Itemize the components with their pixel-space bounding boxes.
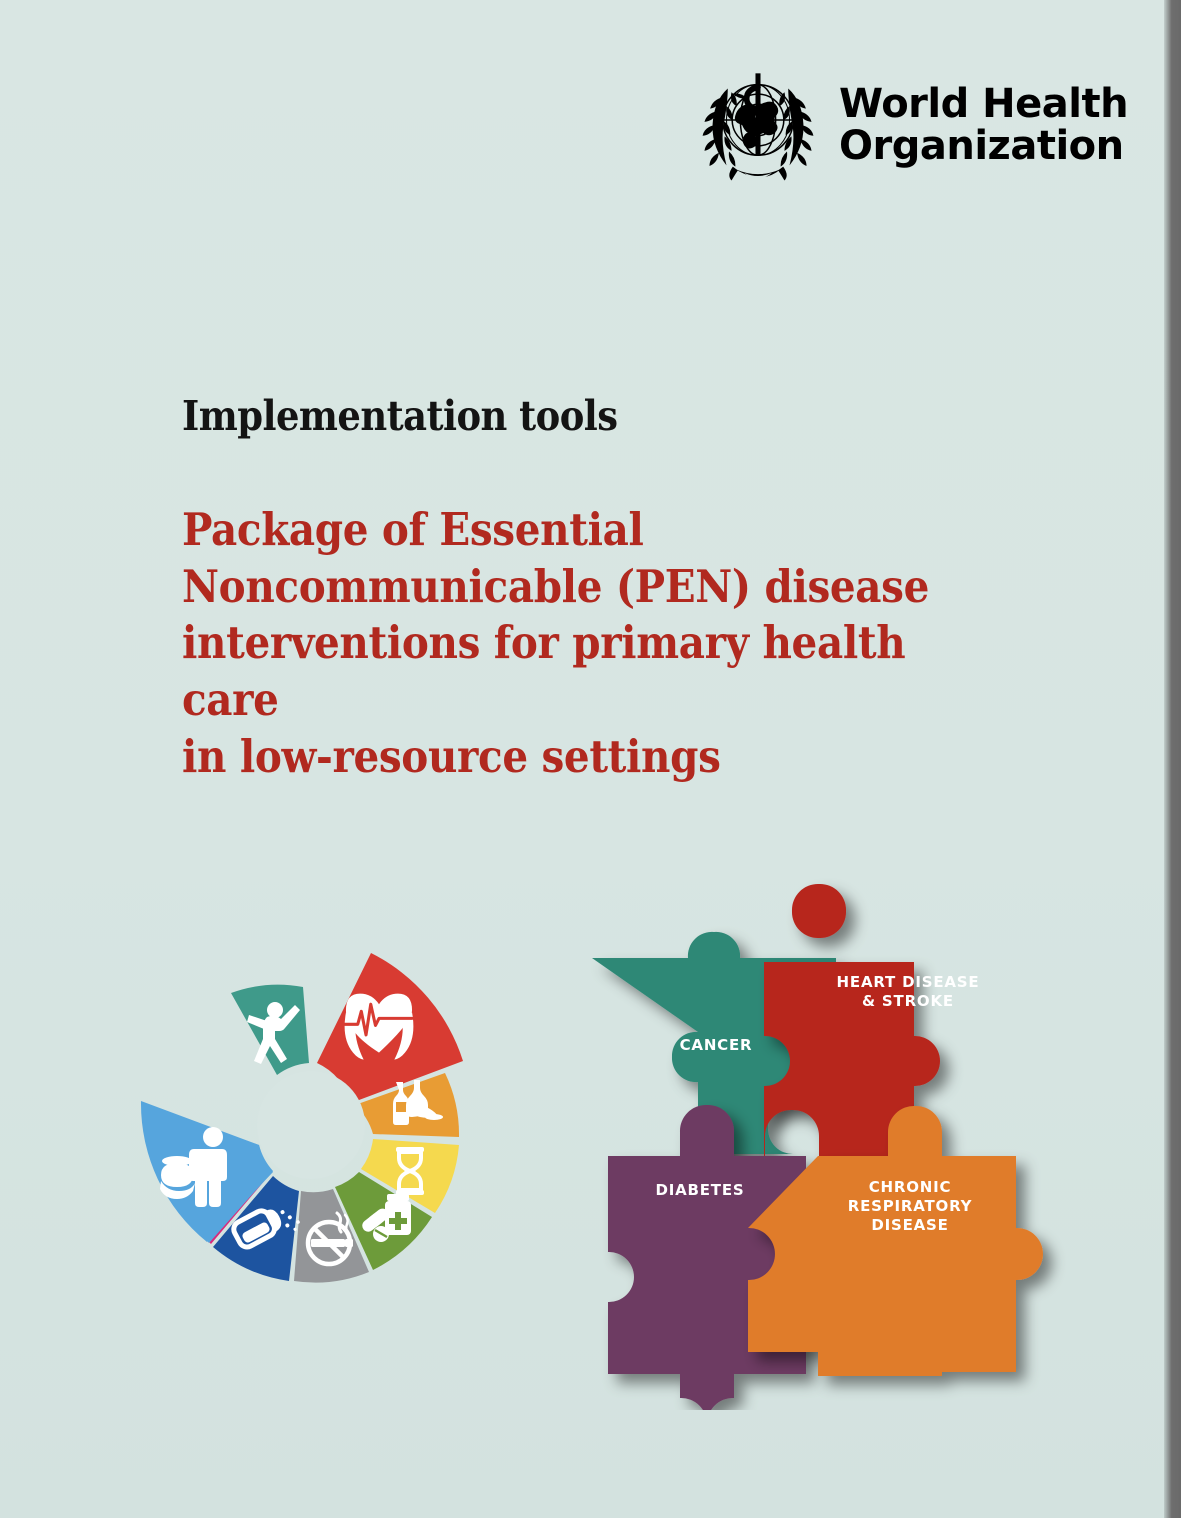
svg-text:HEART DISEASE: HEART DISEASE xyxy=(837,973,980,991)
cover-page: World Health Organization Implementation… xyxy=(0,0,1181,1518)
who-logo: World Health Organization xyxy=(695,62,1181,188)
svg-text:DISEASE: DISEASE xyxy=(871,1216,948,1234)
heart-in-hands-icon xyxy=(344,994,414,1060)
page-title: Package of Essential Noncommunicable (PE… xyxy=(182,502,992,785)
svg-text:RESPIRATORY: RESPIRATORY xyxy=(848,1197,973,1215)
ncd-risk-factor-pinwheel xyxy=(96,880,526,1350)
puzzle-piece-chronic-respiratory-disease xyxy=(748,1106,1043,1376)
pinwheel-hub xyxy=(257,1071,365,1179)
pinwheel-segment-physical-activity xyxy=(231,985,309,1075)
svg-text:CHRONIC: CHRONIC xyxy=(869,1178,952,1196)
puzzle-label-cancer: CANCER xyxy=(680,1036,753,1054)
svg-text:& STROKE: & STROKE xyxy=(862,992,954,1010)
page-edge-shadow xyxy=(1164,0,1181,1518)
puzzle-label-diabetes: DIABETES xyxy=(655,1181,744,1199)
ncd-puzzle-diagram: CANCER HEART DISEASE & STROKE DIABETES C… xyxy=(590,870,1070,1410)
title-block: Implementation tools Package of Essentia… xyxy=(182,392,1082,785)
page-kicker: Implementation tools xyxy=(182,392,992,440)
who-emblem xyxy=(695,62,821,188)
who-wordmark: World Health Organization xyxy=(839,83,1181,168)
